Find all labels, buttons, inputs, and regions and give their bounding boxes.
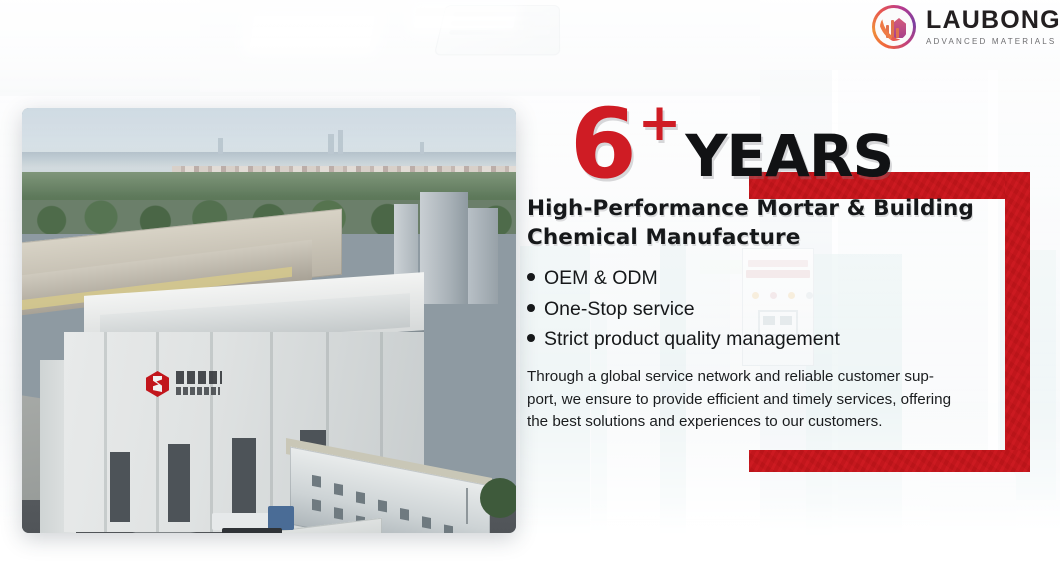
factory-aerial-photo — [22, 108, 516, 533]
list-item-label: One-Stop service — [544, 294, 695, 324]
hero-content: 6 + YEARS High-Performance Mortar & Buil… — [527, 96, 1027, 434]
list-item-label: Strict product quality management — [544, 324, 840, 354]
paragraph-line: Through a global service network and rel… — [527, 366, 1005, 389]
list-item-label: OEM & ODM — [544, 263, 658, 293]
page-title: High-Performance Mortar & Building Chemi… — [527, 194, 1027, 252]
laubong-logo-icon — [872, 5, 916, 49]
list-item: OEM & ODM — [527, 263, 1027, 293]
years-number: 6 — [570, 103, 637, 186]
plus-symbol: + — [638, 97, 682, 149]
brand-logo[interactable]: LAUBONG ADVANCED MATERIALS — [872, 4, 1054, 50]
promo-banner: LAUBONG ADVANCED MATERIALS 6 + YEARS Hig… — [0, 0, 1060, 568]
brand-name: LAUBONG — [926, 8, 1060, 33]
bullet-dot-icon — [527, 273, 535, 281]
feature-list: OEM & ODM One-Stop service Strict produc… — [527, 263, 1027, 354]
list-item: One-Stop service — [527, 294, 1027, 324]
bullet-dot-icon — [527, 334, 535, 342]
paragraph-line: port, we ensure to provide efficient and… — [527, 389, 1005, 412]
years-headline: 6 + YEARS — [527, 96, 1027, 186]
paragraph-line: the best solutions and experiences to ou… — [527, 411, 1005, 434]
years-word: YEARS — [685, 130, 893, 182]
list-item: Strict product quality management — [527, 324, 1027, 354]
bullet-dot-icon — [527, 304, 535, 312]
brand-tagline: ADVANCED MATERIALS — [926, 37, 1060, 46]
description-paragraph: Through a global service network and rel… — [527, 366, 1005, 434]
